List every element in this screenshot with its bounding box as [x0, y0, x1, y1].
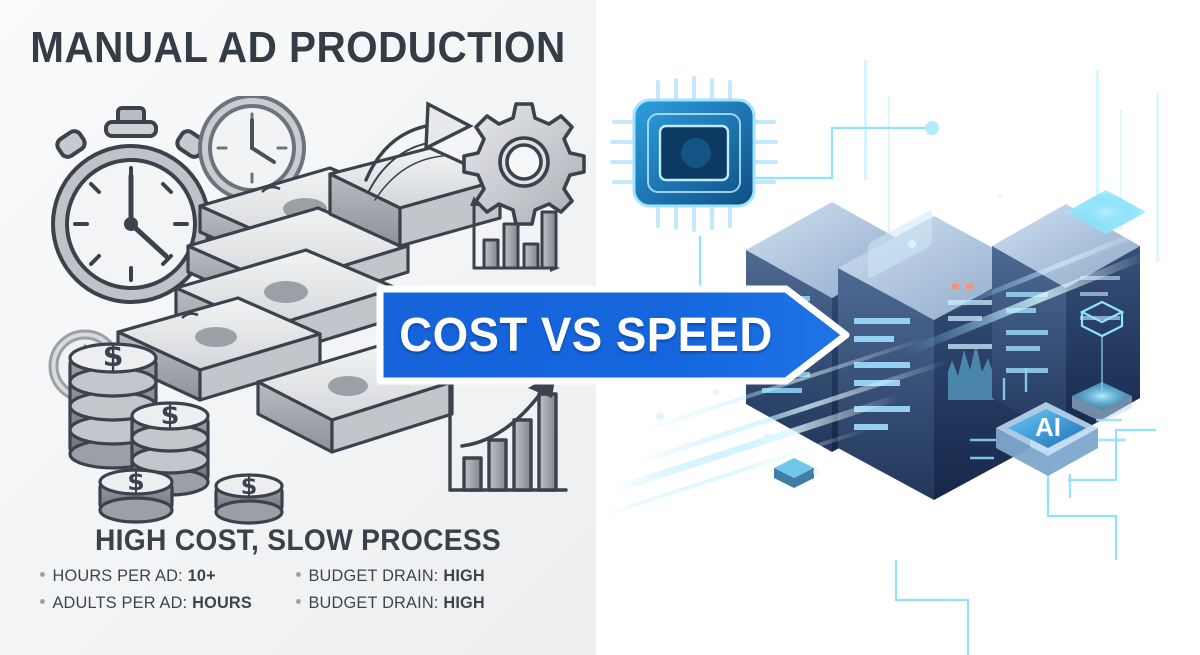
stat-item: HOURS PER AD: 10+: [40, 566, 286, 586]
stat-label: ADULTS PER AD:: [52, 593, 187, 613]
stat-value: HIGH: [443, 566, 485, 586]
cpu-chip-icon: [612, 78, 776, 230]
stat-item: BUDGET DRAIN: HIGH: [296, 593, 536, 613]
chip-node-icon: [774, 458, 814, 488]
stat-label: BUDGET DRAIN:: [308, 566, 438, 586]
stat-item: ADULTS PER AD: HOURS: [40, 593, 286, 613]
comparison-infographic: $ $ $: [0, 0, 1200, 655]
stopwatch-icon: [53, 108, 209, 302]
stat-value: HIGH: [443, 593, 485, 613]
banner-label: COST VS SPEED: [387, 283, 786, 387]
svg-text:$: $: [241, 472, 258, 500]
growth-chart-icon: [450, 372, 566, 490]
gear-icon: [464, 104, 584, 224]
stat-label: BUDGET DRAIN:: [308, 593, 438, 613]
manual-stats: HOURS PER AD: 10+ ADULTS PER AD: HOURS B…: [40, 566, 560, 613]
manual-stats-col-1: HOURS PER AD: 10+ ADULTS PER AD: HOURS: [40, 566, 296, 613]
stat-item: BUDGET DRAIN: HIGH: [296, 566, 536, 586]
bullet-dot-icon: [40, 599, 45, 604]
manual-title: MANUAL AD PRODUCTION: [24, 26, 572, 70]
svg-text:$: $: [161, 400, 180, 431]
manual-subheading: HIGH COST, SLOW PROCESS: [18, 524, 578, 558]
svg-text:$: $: [127, 467, 144, 496]
bullet-dot-icon: [296, 599, 301, 604]
bullet-dot-icon: [296, 572, 301, 577]
bullet-dot-icon: [40, 572, 45, 577]
cost-vs-speed-banner: COST VS SPEED: [376, 283, 850, 387]
manual-stats-col-2: BUDGET DRAIN: HIGH BUDGET DRAIN: HIGH: [296, 566, 546, 613]
stat-label: HOURS PER AD:: [52, 566, 182, 586]
stat-value: 10+: [188, 566, 216, 586]
svg-text:$: $: [103, 339, 124, 374]
ai-chip-label: AI: [1035, 412, 1061, 442]
stat-value: HOURS: [192, 593, 252, 613]
